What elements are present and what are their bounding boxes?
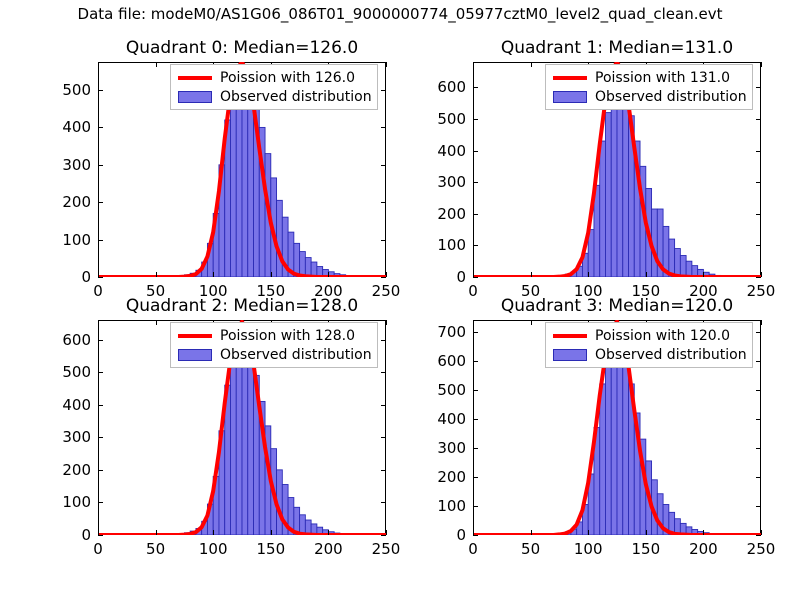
y-tick-mark <box>473 332 478 333</box>
y-tick-label: 300 <box>62 156 91 174</box>
legend-quadrant-0[interactable]: Poission with 126.0Observed distribution <box>170 64 378 110</box>
y-tick-mark <box>473 119 478 120</box>
y-tick-mark-right <box>756 506 761 507</box>
x-tick-mark <box>271 272 272 277</box>
histogram-bar <box>605 113 611 277</box>
y-tick-mark-right <box>381 240 386 241</box>
y-tick-mark-right <box>381 437 386 438</box>
y-tick-label: 600 <box>62 331 91 349</box>
y-tick-mark-right <box>756 332 761 333</box>
x-tick-label: 50 <box>521 540 540 558</box>
y-tick-mark <box>473 419 478 420</box>
x-tick-mark <box>386 530 387 535</box>
figure-canvas: Data file: modeM0/AS1G06_086T01_90000007… <box>0 0 800 600</box>
y-tick-mark <box>98 340 103 341</box>
y-tick-label: 0 <box>456 268 466 286</box>
x-tick-mark <box>703 272 704 277</box>
y-tick-mark-right <box>756 151 761 152</box>
y-tick-label: 200 <box>62 193 91 211</box>
x-tick-mark <box>386 272 387 277</box>
y-tick-label: 200 <box>437 468 466 486</box>
x-tick-mark <box>328 530 329 535</box>
y-tick-mark-right <box>756 119 761 120</box>
legend-item: Poission with 126.0 <box>176 68 372 87</box>
legend-patch-swatch-icon <box>553 349 587 361</box>
legend-item: Poission with 120.0 <box>551 326 747 345</box>
subplot-title-quadrant-3: Quadrant 3: Median=120.0 <box>473 296 761 316</box>
y-tick-mark <box>98 277 103 278</box>
y-tick-mark <box>473 87 478 88</box>
y-tick-mark <box>98 165 103 166</box>
x-tick-mark <box>328 272 329 277</box>
legend-line-swatch-icon <box>178 76 212 80</box>
legend-item: Poission with 128.0 <box>176 326 372 345</box>
y-tick-label: 100 <box>437 236 466 254</box>
subplot-quadrant-3: Quadrant 3: Median=120.0 010020030040050… <box>473 320 761 535</box>
x-tick-label: 150 <box>631 540 660 558</box>
y-tick-label: 0 <box>81 268 91 286</box>
y-tick-label: 200 <box>437 205 466 223</box>
histogram-bar <box>248 353 254 535</box>
subplot-quadrant-1: Quadrant 1: Median=131.0 010020030040050… <box>473 62 761 277</box>
y-tick-label: 300 <box>437 439 466 457</box>
x-tick-mark-top <box>98 320 99 325</box>
histogram-bar <box>617 87 623 277</box>
y-tick-mark-right <box>381 340 386 341</box>
legend-quadrant-3[interactable]: Poission with 120.0Observed distribution <box>545 322 753 368</box>
y-tick-mark <box>473 245 478 246</box>
legend-label: Observed distribution <box>595 89 747 105</box>
legend-label: Observed distribution <box>220 347 372 363</box>
y-tick-label: 500 <box>437 110 466 128</box>
y-tick-label: 400 <box>437 410 466 428</box>
y-tick-mark-right <box>756 245 761 246</box>
y-tick-mark <box>98 240 103 241</box>
y-tick-mark-right <box>756 87 761 88</box>
x-tick-mark <box>156 530 157 535</box>
legend-line-swatch-icon <box>553 76 587 80</box>
x-tick-label: 100 <box>574 540 603 558</box>
x-tick-mark-top <box>761 62 762 67</box>
histogram-bars <box>548 87 738 277</box>
x-tick-mark-top <box>761 320 762 325</box>
x-tick-label: 100 <box>199 540 228 558</box>
histogram-bar <box>242 340 248 535</box>
histogram-bar <box>605 355 611 535</box>
x-tick-mark <box>761 530 762 535</box>
y-tick-mark-right <box>381 165 386 166</box>
x-tick-label: 0 <box>93 540 103 558</box>
x-tick-mark-top <box>156 62 157 67</box>
y-tick-label: 500 <box>437 381 466 399</box>
legend-item: Observed distribution <box>551 345 747 364</box>
y-tick-label: 100 <box>437 497 466 515</box>
x-tick-mark-top <box>386 62 387 67</box>
subplot-title-quadrant-1: Quadrant 1: Median=131.0 <box>473 38 761 58</box>
y-tick-label: 400 <box>437 142 466 160</box>
x-tick-label: 50 <box>146 540 165 558</box>
legend-label: Observed distribution <box>595 347 747 363</box>
histogram-bar <box>623 358 629 535</box>
y-tick-mark <box>98 405 103 406</box>
y-tick-mark <box>98 202 103 203</box>
x-tick-label: 150 <box>256 540 285 558</box>
y-tick-label: 300 <box>437 173 466 191</box>
x-tick-mark <box>156 272 157 277</box>
y-tick-mark-right <box>756 448 761 449</box>
legend-item: Observed distribution <box>551 87 747 106</box>
x-tick-mark <box>531 272 532 277</box>
legend-item: Poission with 131.0 <box>551 68 747 87</box>
x-tick-mark <box>703 530 704 535</box>
legend-patch-swatch-icon <box>178 91 212 103</box>
x-tick-mark <box>98 530 99 535</box>
x-tick-label: 250 <box>372 540 401 558</box>
x-tick-mark-top <box>473 320 474 325</box>
y-tick-mark-right <box>756 361 761 362</box>
y-tick-label: 500 <box>62 81 91 99</box>
subplot-title-quadrant-0: Quadrant 0: Median=126.0 <box>98 38 386 58</box>
histogram-bar <box>305 258 311 277</box>
histogram-bar <box>300 252 306 277</box>
x-tick-mark <box>588 272 589 277</box>
y-tick-mark-right <box>381 127 386 128</box>
x-tick-mark-top <box>531 320 532 325</box>
y-tick-mark <box>473 390 478 391</box>
y-tick-mark <box>473 151 478 152</box>
y-tick-mark <box>473 361 478 362</box>
histogram-bar <box>600 141 606 277</box>
y-tick-mark <box>473 448 478 449</box>
x-tick-mark <box>588 530 589 535</box>
legend-patch-swatch-icon <box>178 349 212 361</box>
legend-label: Observed distribution <box>220 89 372 105</box>
histogram-bar <box>669 239 675 277</box>
histogram-bar <box>611 94 617 277</box>
histogram-bar <box>230 94 236 277</box>
y-tick-mark-right <box>756 390 761 391</box>
y-tick-mark <box>98 502 103 503</box>
y-tick-mark-right <box>756 535 761 536</box>
y-tick-mark-right <box>381 202 386 203</box>
histogram-bar <box>600 384 606 535</box>
y-tick-mark <box>473 182 478 183</box>
y-tick-label: 0 <box>456 526 466 544</box>
y-tick-mark <box>98 437 103 438</box>
x-tick-mark <box>473 272 474 277</box>
y-tick-label: 400 <box>62 396 91 414</box>
x-tick-label: 200 <box>314 540 343 558</box>
legend-label: Poission with 126.0 <box>220 70 355 86</box>
y-tick-mark <box>473 506 478 507</box>
legend-item: Observed distribution <box>176 87 372 106</box>
legend-label: Poission with 128.0 <box>220 328 355 344</box>
x-tick-mark <box>531 530 532 535</box>
histogram-bar <box>277 200 283 277</box>
x-tick-mark <box>213 272 214 277</box>
histogram-bar <box>230 357 236 535</box>
subplot-quadrant-0: Quadrant 0: Median=126.0 010020030040050… <box>98 62 386 277</box>
x-tick-mark <box>646 530 647 535</box>
legend-line-swatch-icon <box>553 334 587 338</box>
legend-line-swatch-icon <box>178 334 212 338</box>
y-tick-label: 300 <box>62 428 91 446</box>
y-tick-label: 500 <box>62 363 91 381</box>
y-tick-mark <box>98 535 103 536</box>
y-tick-label: 600 <box>437 352 466 370</box>
legend-item: Observed distribution <box>176 345 372 364</box>
y-tick-mark-right <box>381 405 386 406</box>
x-tick-label: 200 <box>689 540 718 558</box>
y-tick-mark-right <box>756 419 761 420</box>
y-tick-label: 0 <box>81 526 91 544</box>
x-tick-label: 0 <box>468 540 478 558</box>
x-tick-mark <box>271 530 272 535</box>
y-tick-mark-right <box>381 277 386 278</box>
subplot-title-quadrant-2: Quadrant 2: Median=128.0 <box>98 296 386 316</box>
x-tick-mark <box>646 272 647 277</box>
y-tick-mark-right <box>756 277 761 278</box>
y-tick-mark-right <box>381 535 386 536</box>
y-tick-label: 100 <box>62 493 91 511</box>
y-tick-mark-right <box>756 182 761 183</box>
y-tick-mark-right <box>381 90 386 91</box>
legend-patch-swatch-icon <box>553 91 587 103</box>
x-tick-mark <box>761 272 762 277</box>
y-tick-mark-right <box>381 372 386 373</box>
x-tick-mark <box>98 272 99 277</box>
y-tick-mark <box>473 535 478 536</box>
histogram-bar <box>686 261 692 277</box>
y-tick-mark <box>98 470 103 471</box>
legend-label: Poission with 120.0 <box>595 328 730 344</box>
y-tick-mark-right <box>381 502 386 503</box>
y-tick-mark <box>473 214 478 215</box>
figure-suptitle: Data file: modeM0/AS1G06_086T01_90000007… <box>0 5 800 23</box>
y-tick-mark <box>473 277 478 278</box>
x-tick-label: 250 <box>747 540 776 558</box>
histogram-bar <box>675 249 681 277</box>
y-tick-label: 700 <box>437 323 466 341</box>
y-tick-mark <box>98 372 103 373</box>
x-tick-mark-top <box>156 320 157 325</box>
histogram-bar <box>680 256 686 278</box>
y-tick-label: 100 <box>62 231 91 249</box>
y-tick-label: 200 <box>62 461 91 479</box>
x-tick-mark <box>473 530 474 535</box>
y-tick-mark <box>98 90 103 91</box>
x-tick-mark-top <box>473 62 474 67</box>
histogram-bar <box>617 340 623 535</box>
y-tick-label: 400 <box>62 118 91 136</box>
legend-quadrant-1[interactable]: Poission with 131.0Observed distribution <box>545 64 753 110</box>
y-tick-mark <box>98 127 103 128</box>
y-tick-mark-right <box>756 214 761 215</box>
x-tick-mark-top <box>98 62 99 67</box>
y-tick-mark-right <box>381 470 386 471</box>
y-tick-mark-right <box>756 477 761 478</box>
legend-quadrant-2[interactable]: Poission with 128.0Observed distribution <box>170 322 378 368</box>
subplot-quadrant-2: Quadrant 2: Median=128.0 010020030040050… <box>98 320 386 535</box>
x-tick-mark-top <box>531 62 532 67</box>
histogram-bar <box>623 97 629 277</box>
x-tick-mark <box>213 530 214 535</box>
x-tick-mark-top <box>386 320 387 325</box>
legend-label: Poission with 131.0 <box>595 70 730 86</box>
y-tick-label: 600 <box>437 78 466 96</box>
y-tick-mark <box>473 477 478 478</box>
